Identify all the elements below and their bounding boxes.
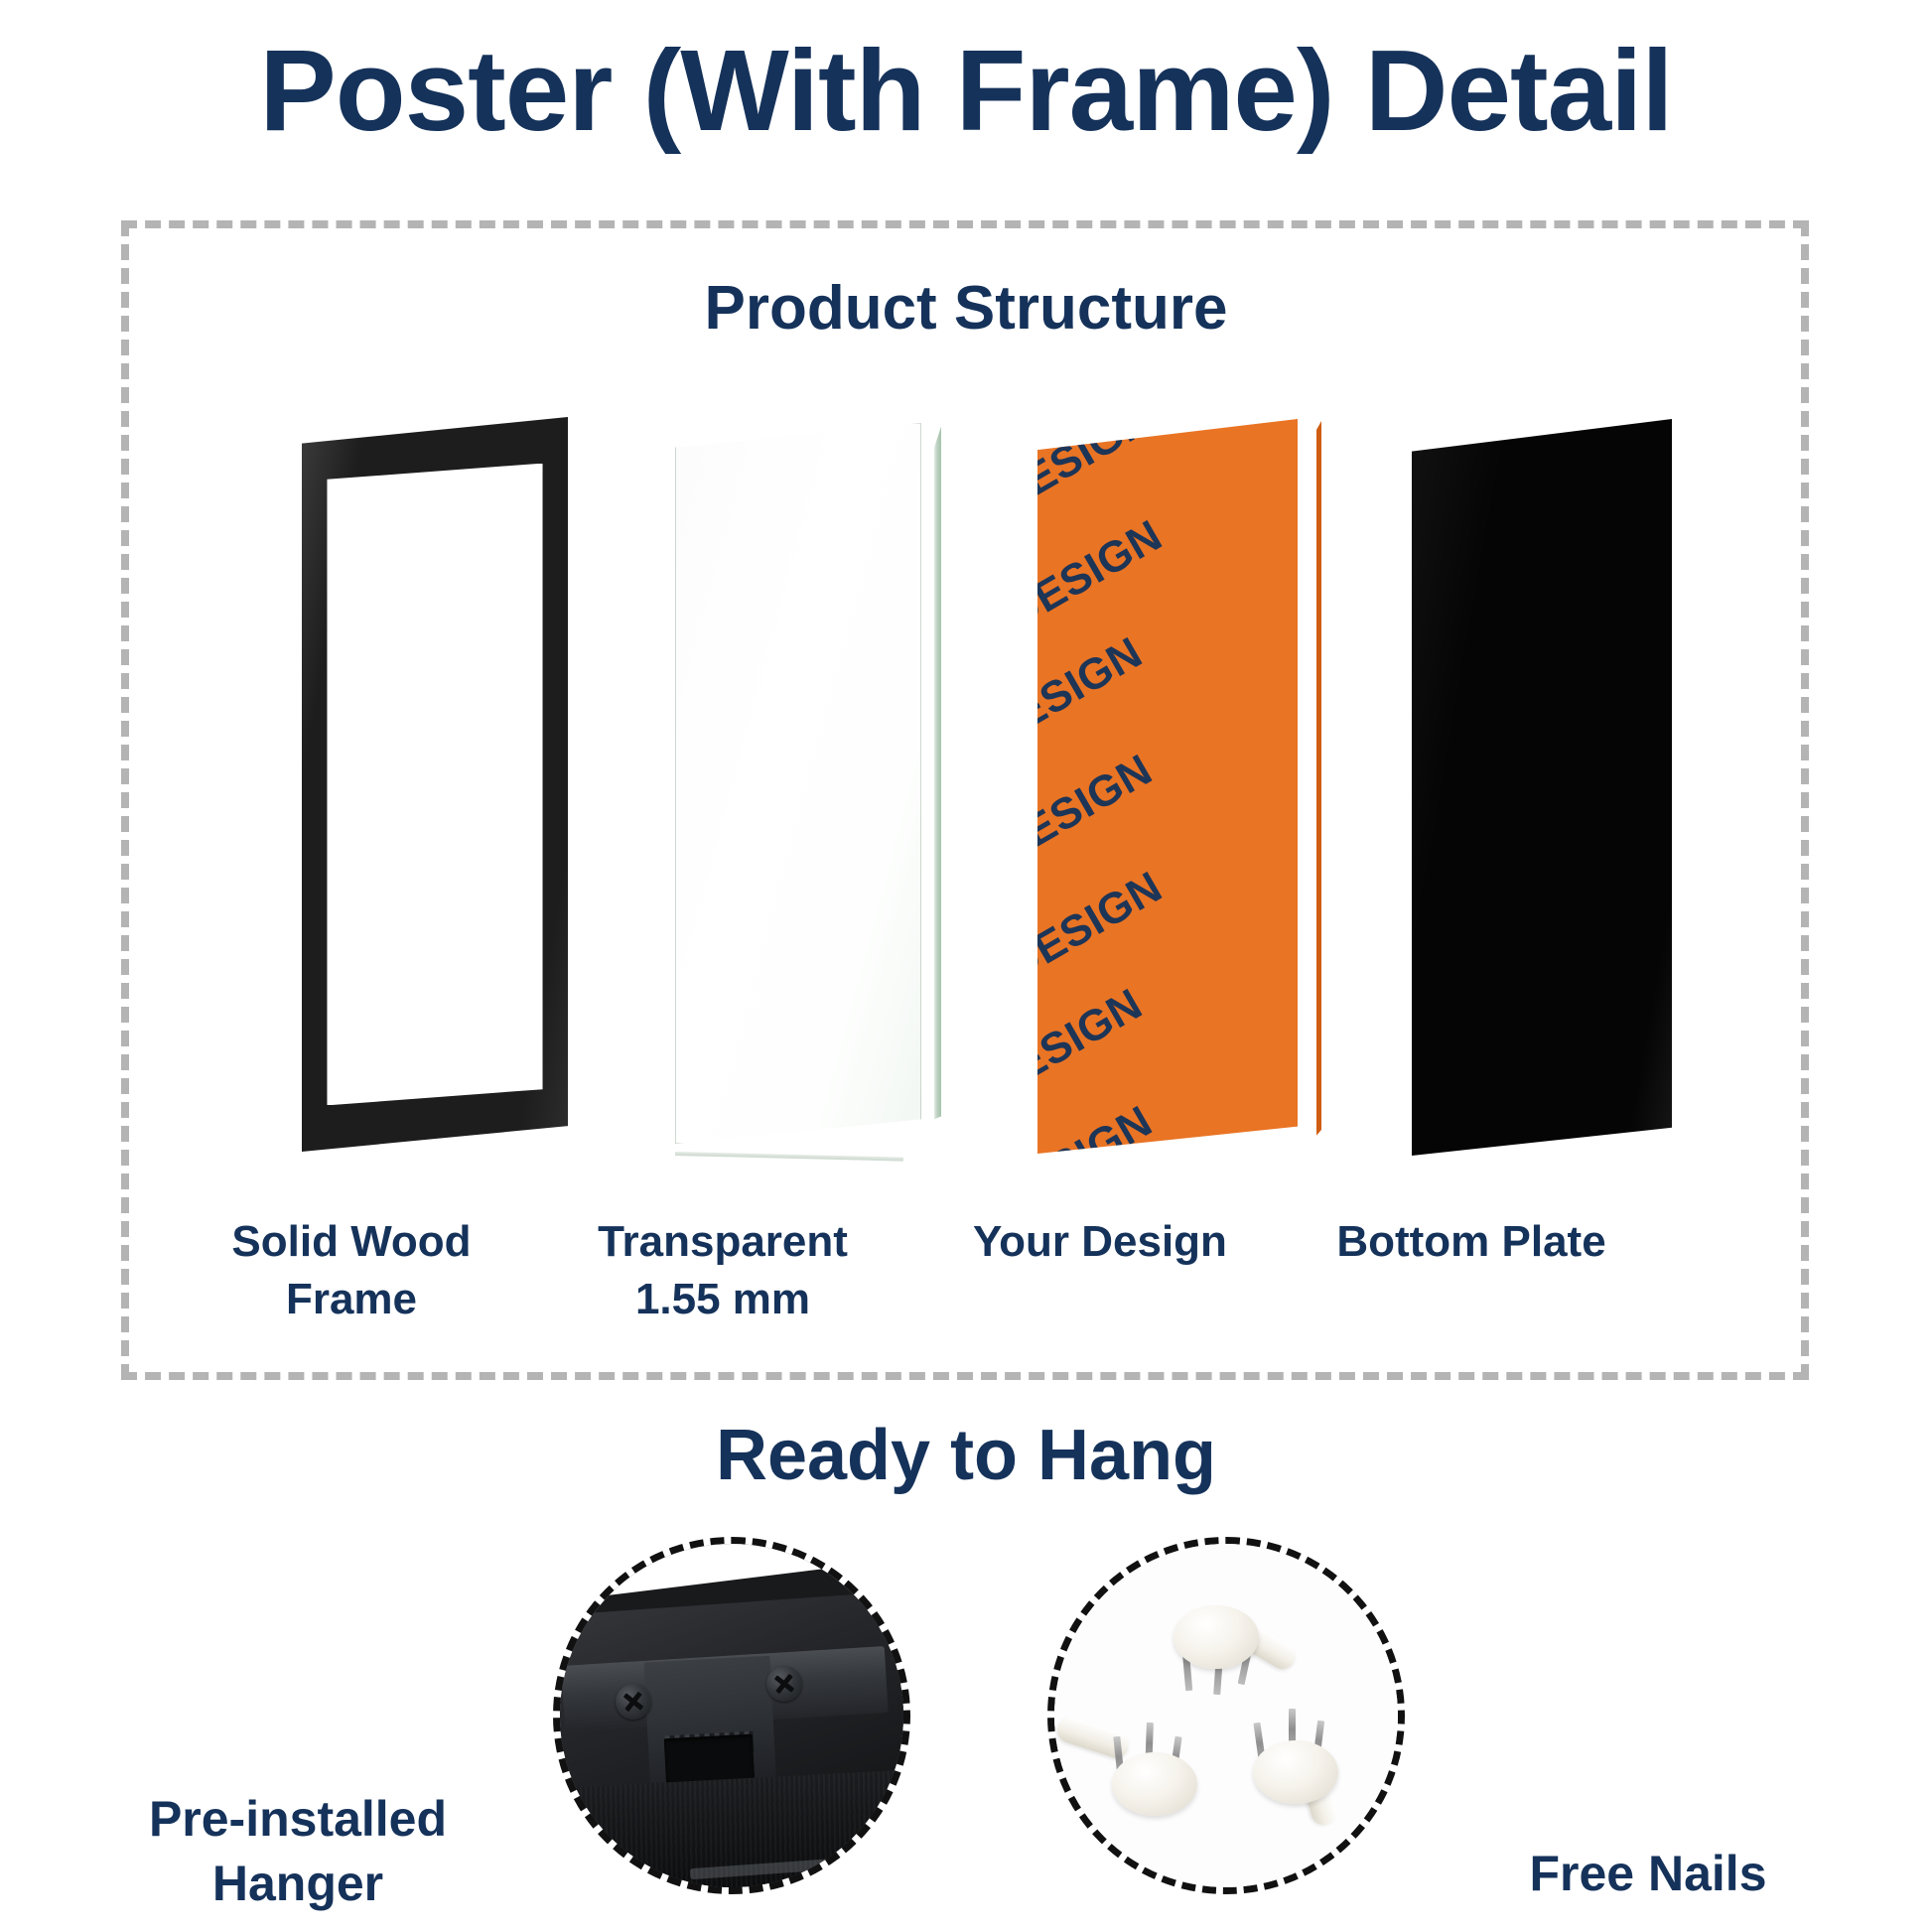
part-solid-wood-frame[interactable] [290,417,588,1172]
design-watermark-text: YOUR DESIGN [1037,1097,1161,1154]
caption-line-1: Pre-installed [60,1787,536,1852]
free-nails-photo[interactable] [1047,1537,1405,1894]
page-title: Poster (With Frame) Detail [0,28,1932,155]
plastic-hook-nails-photo [1054,1544,1398,1887]
bottom-plate-icon [1402,417,1700,1172]
product-structure-heading: Product Structure [0,273,1932,344]
part-bottom-plate[interactable] [1402,417,1700,1172]
sawtooth-hanger-photo [556,1540,907,1891]
caption-line-2: 1.55 mm [514,1271,931,1328]
design-sheet-icon: YOUR DESIGNYOUR DESIGNYOUR DESIGNYOUR DE… [1030,417,1327,1172]
pre-installed-hanger-photo[interactable] [553,1537,910,1894]
ready-to-hang-heading: Ready to Hang [0,1415,1932,1496]
caption-line-1: Bottom Plate [1263,1213,1680,1271]
caption-line-2: Hanger [60,1852,536,1916]
product-structure-parts-row: YOUR DESIGNYOUR DESIGNYOUR DESIGNYOUR DE… [121,417,1809,1211]
caption-line-1: Solid Wood [143,1213,560,1271]
wood-frame-icon [290,417,588,1172]
caption-line-1: Your Design [892,1213,1309,1271]
caption-pre-installed-hanger: Pre-installed Hanger [60,1787,536,1916]
caption-transparent-pane: Transparent 1.55 mm [514,1213,931,1328]
part-transparent-pane[interactable] [657,417,955,1172]
caption-solid-wood-frame: Solid Wood Frame [143,1213,560,1328]
caption-line-2: Frame [143,1271,560,1328]
caption-free-nails: Free Nails [1430,1842,1866,1906]
caption-your-design: Your Design [892,1213,1309,1271]
design-watermark-group: YOUR DESIGNYOUR DESIGNYOUR DESIGNYOUR DE… [1037,419,1298,1154]
caption-line-1: Transparent [514,1213,931,1271]
caption-bottom-plate: Bottom Plate [1263,1213,1680,1271]
caption-line-1: Free Nails [1430,1842,1866,1906]
glass-pane-icon [657,417,955,1172]
part-your-design[interactable]: YOUR DESIGNYOUR DESIGNYOUR DESIGNYOUR DE… [1030,417,1327,1172]
